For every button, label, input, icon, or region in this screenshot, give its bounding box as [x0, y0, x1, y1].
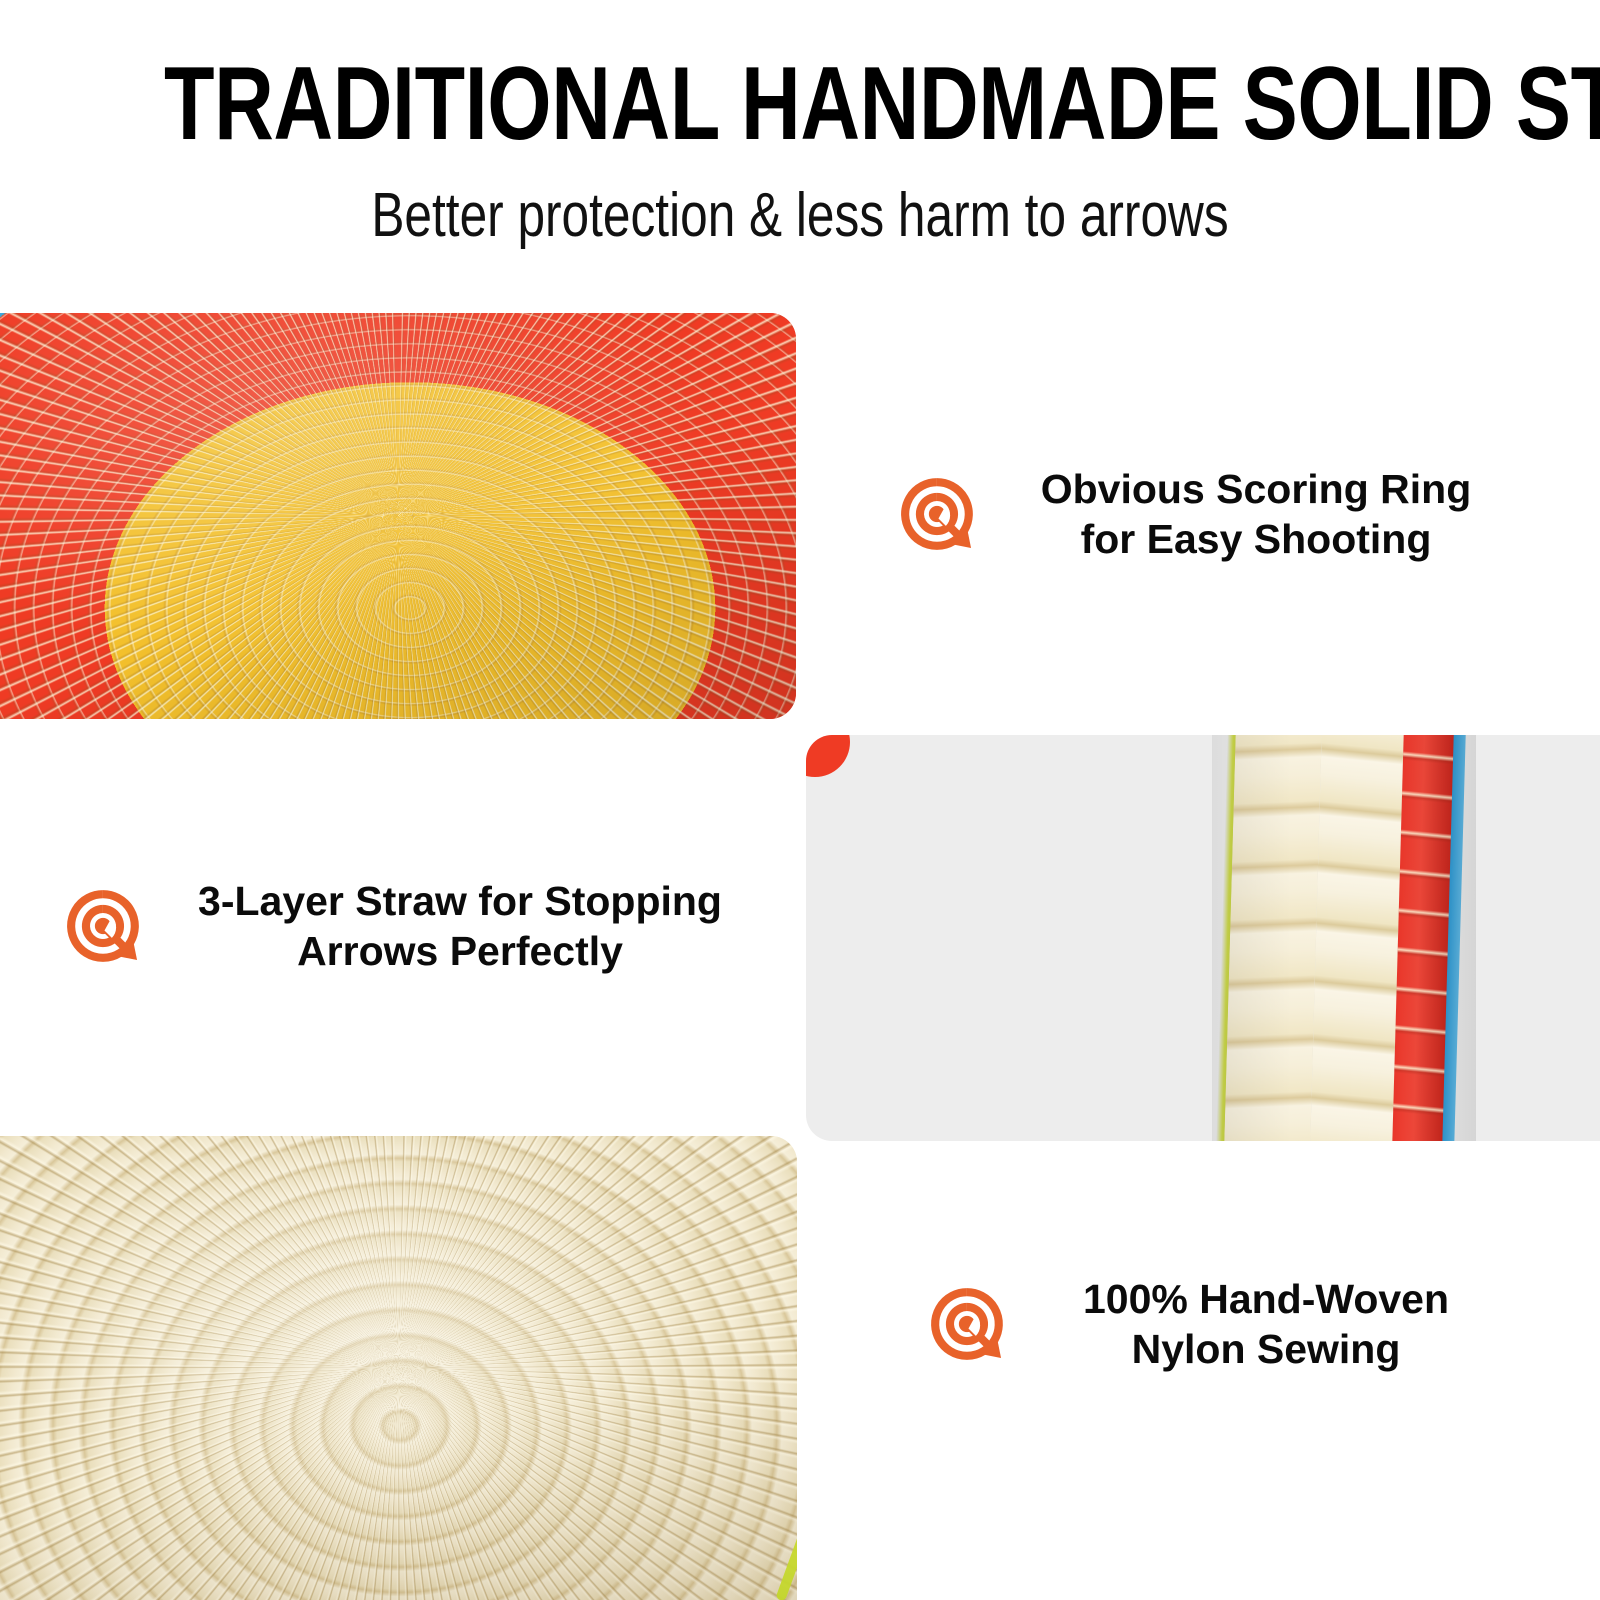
panel-shading-overlay: [0, 1136, 797, 1600]
feature-hand-woven-nylon: 100% Hand-Woven Nylon Sewing: [930, 1274, 1510, 1374]
product-infographic: TRADITIONAL HANDMADE SOLID STRAW Better …: [0, 0, 1600, 1600]
panel-straw-back-closeup: [0, 1136, 797, 1600]
panel-edge-layer-closeup: [806, 735, 1600, 1141]
feature-label: 3-Layer Straw for Stopping Arrows Perfec…: [162, 876, 758, 976]
target-arrow-icon: [66, 889, 140, 963]
target-arrow-icon: [930, 1287, 1004, 1361]
panel-shading-overlay: [0, 313, 796, 719]
panel-target-face-closeup: [0, 313, 796, 719]
red-face-corner-graphic: [806, 735, 850, 777]
edge-straw-layer-1: [1224, 735, 1322, 1141]
straw-layer-stack-graphic: [1216, 735, 1472, 1141]
page-subtitle: Better protection & less harm to arrows: [160, 183, 1440, 249]
page-title: TRADITIONAL HANDMADE SOLID STRAW: [164, 52, 1436, 156]
feature-scoring-ring: Obvious Scoring Ring for Easy Shooting: [900, 464, 1520, 564]
feature-label: 100% Hand-Woven Nylon Sewing: [1026, 1274, 1506, 1374]
feature-three-layer-straw: 3-Layer Straw for Stopping Arrows Perfec…: [66, 876, 766, 976]
feature-label: Obvious Scoring Ring for Easy Shooting: [996, 464, 1516, 564]
edge-straw-layer-2: [1310, 735, 1404, 1141]
target-arrow-icon: [900, 477, 974, 551]
